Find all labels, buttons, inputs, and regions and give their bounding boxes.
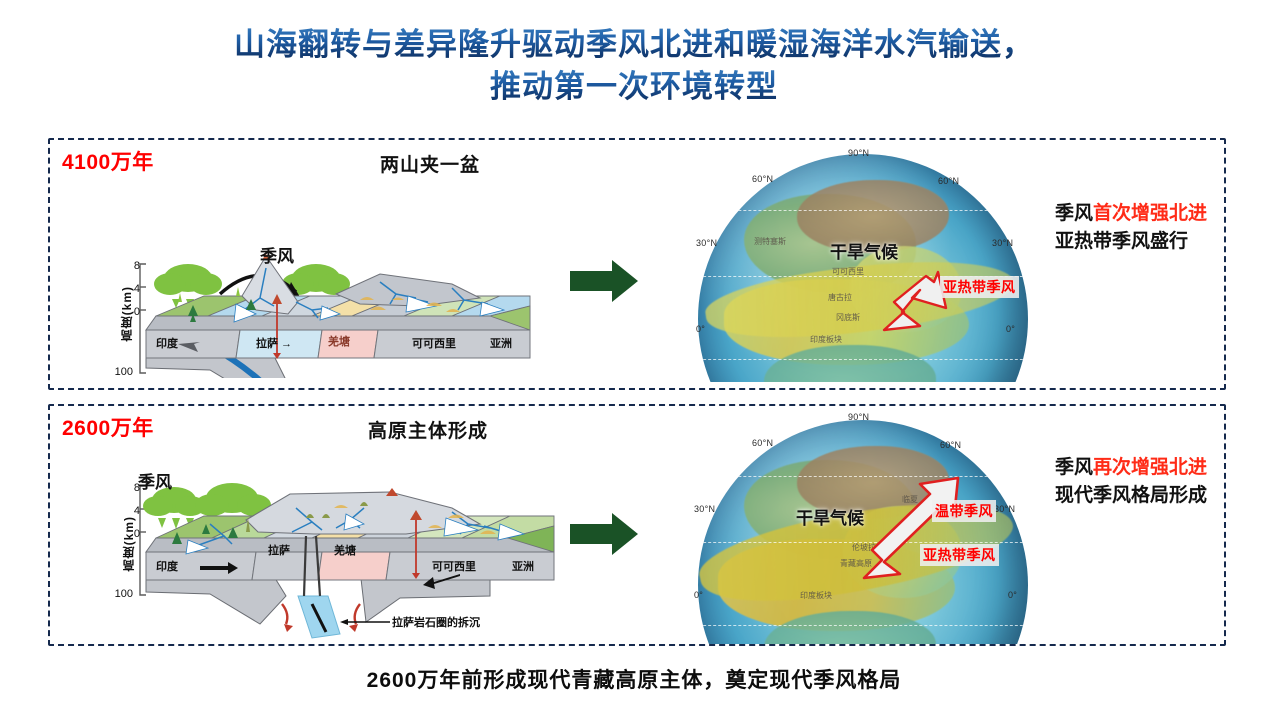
axis-tick-4-26ma: 4 bbox=[112, 505, 140, 517]
axis-title-26ma: 高度(km) bbox=[120, 516, 137, 571]
panel-epoch-26ma: 2600万年 高原主体形成 季风 高度(km) 8 4 0 100 bbox=[48, 404, 1226, 646]
axis-tick-8-26ma: 8 bbox=[112, 482, 140, 494]
axis-tick-8: 8 bbox=[112, 260, 140, 272]
block-label-hoh-xil-41ma: 可可西里 bbox=[412, 335, 456, 351]
era-label-41ma: 4100万年 bbox=[62, 146, 154, 176]
map-note-gangdese-41ma: 冈底斯 bbox=[836, 312, 860, 323]
bottom-caption: 2600万年前形成现代青藏高原主体，奠定现代季风格局 bbox=[0, 664, 1268, 694]
conclusion-line1-red-26ma: 再次增强北进 bbox=[1093, 457, 1207, 478]
panel-epoch-41ma: 4100万年 两山夹一盆 季风 高度(km) 8 4 0 100 bbox=[48, 138, 1226, 390]
map-note-india-plate-41ma: 印度板块 bbox=[810, 334, 842, 345]
panel-heading-26ma: 高原主体形成 bbox=[368, 416, 488, 443]
monsoon-arrow-26ma bbox=[858, 474, 968, 584]
cross-section-41ma: 季风 高度(km) 8 4 0 100 bbox=[60, 198, 600, 378]
page-title: 山海翻转与差异隆升驱动季风北进和暖湿海洋水汽输送， 推动第一次环境转型 bbox=[0, 24, 1268, 108]
panel-heading-41ma: 两山夹一盆 bbox=[380, 150, 480, 177]
climate-label-arid-26ma: 干旱气候 bbox=[796, 504, 864, 529]
map-note-tethys-41ma: 测特塞斯 bbox=[754, 236, 786, 247]
lat-label-30n-west-26ma: 30°N bbox=[694, 504, 715, 514]
block-label-qiangtang-26ma: 羌塘 bbox=[334, 542, 356, 558]
lat-label-60n-east-26ma: 60°N bbox=[940, 440, 961, 450]
lat-label-0-east-26ma: 0° bbox=[1008, 590, 1017, 600]
axis-tick-100: 100 bbox=[105, 366, 133, 378]
block-label-qiangtang-41ma: 羌塘 bbox=[328, 333, 350, 349]
block-label-india-26ma: 印度 bbox=[156, 558, 178, 574]
lat-label-60n-east-41ma: 60°N bbox=[938, 176, 959, 186]
monsoon-arrow-41ma bbox=[876, 264, 954, 336]
title-line-1: 山海翻转与差异隆升驱动季风北进和暖湿海洋水汽输送， bbox=[0, 24, 1268, 66]
climate-label-arid-41ma: 干旱气候 bbox=[830, 238, 898, 263]
block-label-lhasa-26ma: 拉萨 bbox=[268, 542, 290, 558]
transition-arrow-41ma bbox=[570, 258, 640, 304]
axis-tick-0: 0 bbox=[112, 306, 140, 318]
monsoon-label-26ma: 季风 bbox=[138, 468, 172, 493]
lat-label-60n-west-41ma: 60°N bbox=[752, 174, 773, 184]
cross-section-26ma: 季风 高度(km) 8 4 0 100 bbox=[60, 446, 630, 641]
slide-root: 山海翻转与差异隆升驱动季风北进和暖湿海洋水汽输送， 推动第一次环境转型 4100… bbox=[0, 0, 1268, 712]
map-note-tanggula-41ma: 唐古拉 bbox=[828, 292, 852, 303]
block-label-india-41ma: 印度 bbox=[156, 335, 178, 351]
conclusion-26ma: 季风再次增强北进 现代季风格局形成 bbox=[1055, 454, 1207, 510]
monsoon-tag-subtropical-41ma: 亚热带季风 bbox=[940, 276, 1019, 298]
block-label-asia-26ma: 亚洲 bbox=[512, 558, 534, 574]
lat-label-60n-west-26ma: 60°N bbox=[752, 438, 773, 448]
lat-label-0-west-41ma: 0° bbox=[696, 324, 705, 334]
conclusion-41ma: 季风首次增强北进 亚热带季风盛行 bbox=[1055, 200, 1207, 256]
conclusion-line2-26ma: 现代季风格局形成 bbox=[1055, 482, 1207, 510]
axis-tick-4: 4 bbox=[112, 283, 140, 295]
title-line-2: 推动第一次环境转型 bbox=[0, 66, 1268, 108]
axis-tick-100-26ma: 100 bbox=[105, 588, 133, 600]
monsoon-label-41ma: 季风 bbox=[260, 242, 294, 267]
map-note-india-plate-26ma: 印度板块 bbox=[800, 590, 832, 601]
lat-label-0-east-41ma: 0° bbox=[1006, 324, 1015, 334]
lat-label-30n-east-26ma: 30°N bbox=[994, 504, 1015, 514]
conclusion-line1-red-41ma: 首次增强北进 bbox=[1093, 203, 1207, 224]
map-note-hohxil-41ma: 可可西里 bbox=[832, 266, 864, 277]
block-label-hoh-xil-26ma: 可可西里 bbox=[432, 558, 476, 574]
conclusion-line1-black-26ma: 季风 bbox=[1055, 457, 1093, 478]
cross-section-graphic-41ma bbox=[60, 198, 600, 378]
lat-label-0-west-26ma: 0° bbox=[694, 590, 703, 600]
block-label-asia-41ma: 亚洲 bbox=[490, 335, 512, 351]
conclusion-line1-black-41ma: 季风 bbox=[1055, 203, 1093, 224]
delamination-annotation-26ma: 拉萨岩石圈的拆沉 bbox=[392, 614, 480, 630]
globe-41ma: 90°N 60°N 60°N 30°N 30°N 0° 0° 干旱气候 测特塞斯… bbox=[690, 146, 1040, 382]
transition-arrow-26ma bbox=[570, 511, 640, 557]
block-label-lhasa-41ma: 拉萨 → bbox=[256, 335, 292, 351]
lat-label-90n-41ma: 90°N bbox=[848, 148, 869, 158]
globe-26ma: 90°N 60°N 60°N 30°N 30°N 0° 0° 干旱气候 临夏 伦… bbox=[690, 412, 1040, 644]
monsoon-tag-temperate-26ma: 温带季风 bbox=[932, 500, 996, 522]
lat-label-90n-26ma: 90°N bbox=[848, 412, 869, 422]
era-label-26ma: 2600万年 bbox=[62, 412, 154, 442]
axis-tick-0-26ma: 0 bbox=[112, 528, 140, 540]
conclusion-line2-41ma: 亚热带季风盛行 bbox=[1055, 228, 1207, 256]
monsoon-tag-subtropical-26ma: 亚热带季风 bbox=[920, 544, 999, 566]
lat-label-30n-west-41ma: 30°N bbox=[696, 238, 717, 248]
lat-label-30n-east-41ma: 30°N bbox=[992, 238, 1013, 248]
